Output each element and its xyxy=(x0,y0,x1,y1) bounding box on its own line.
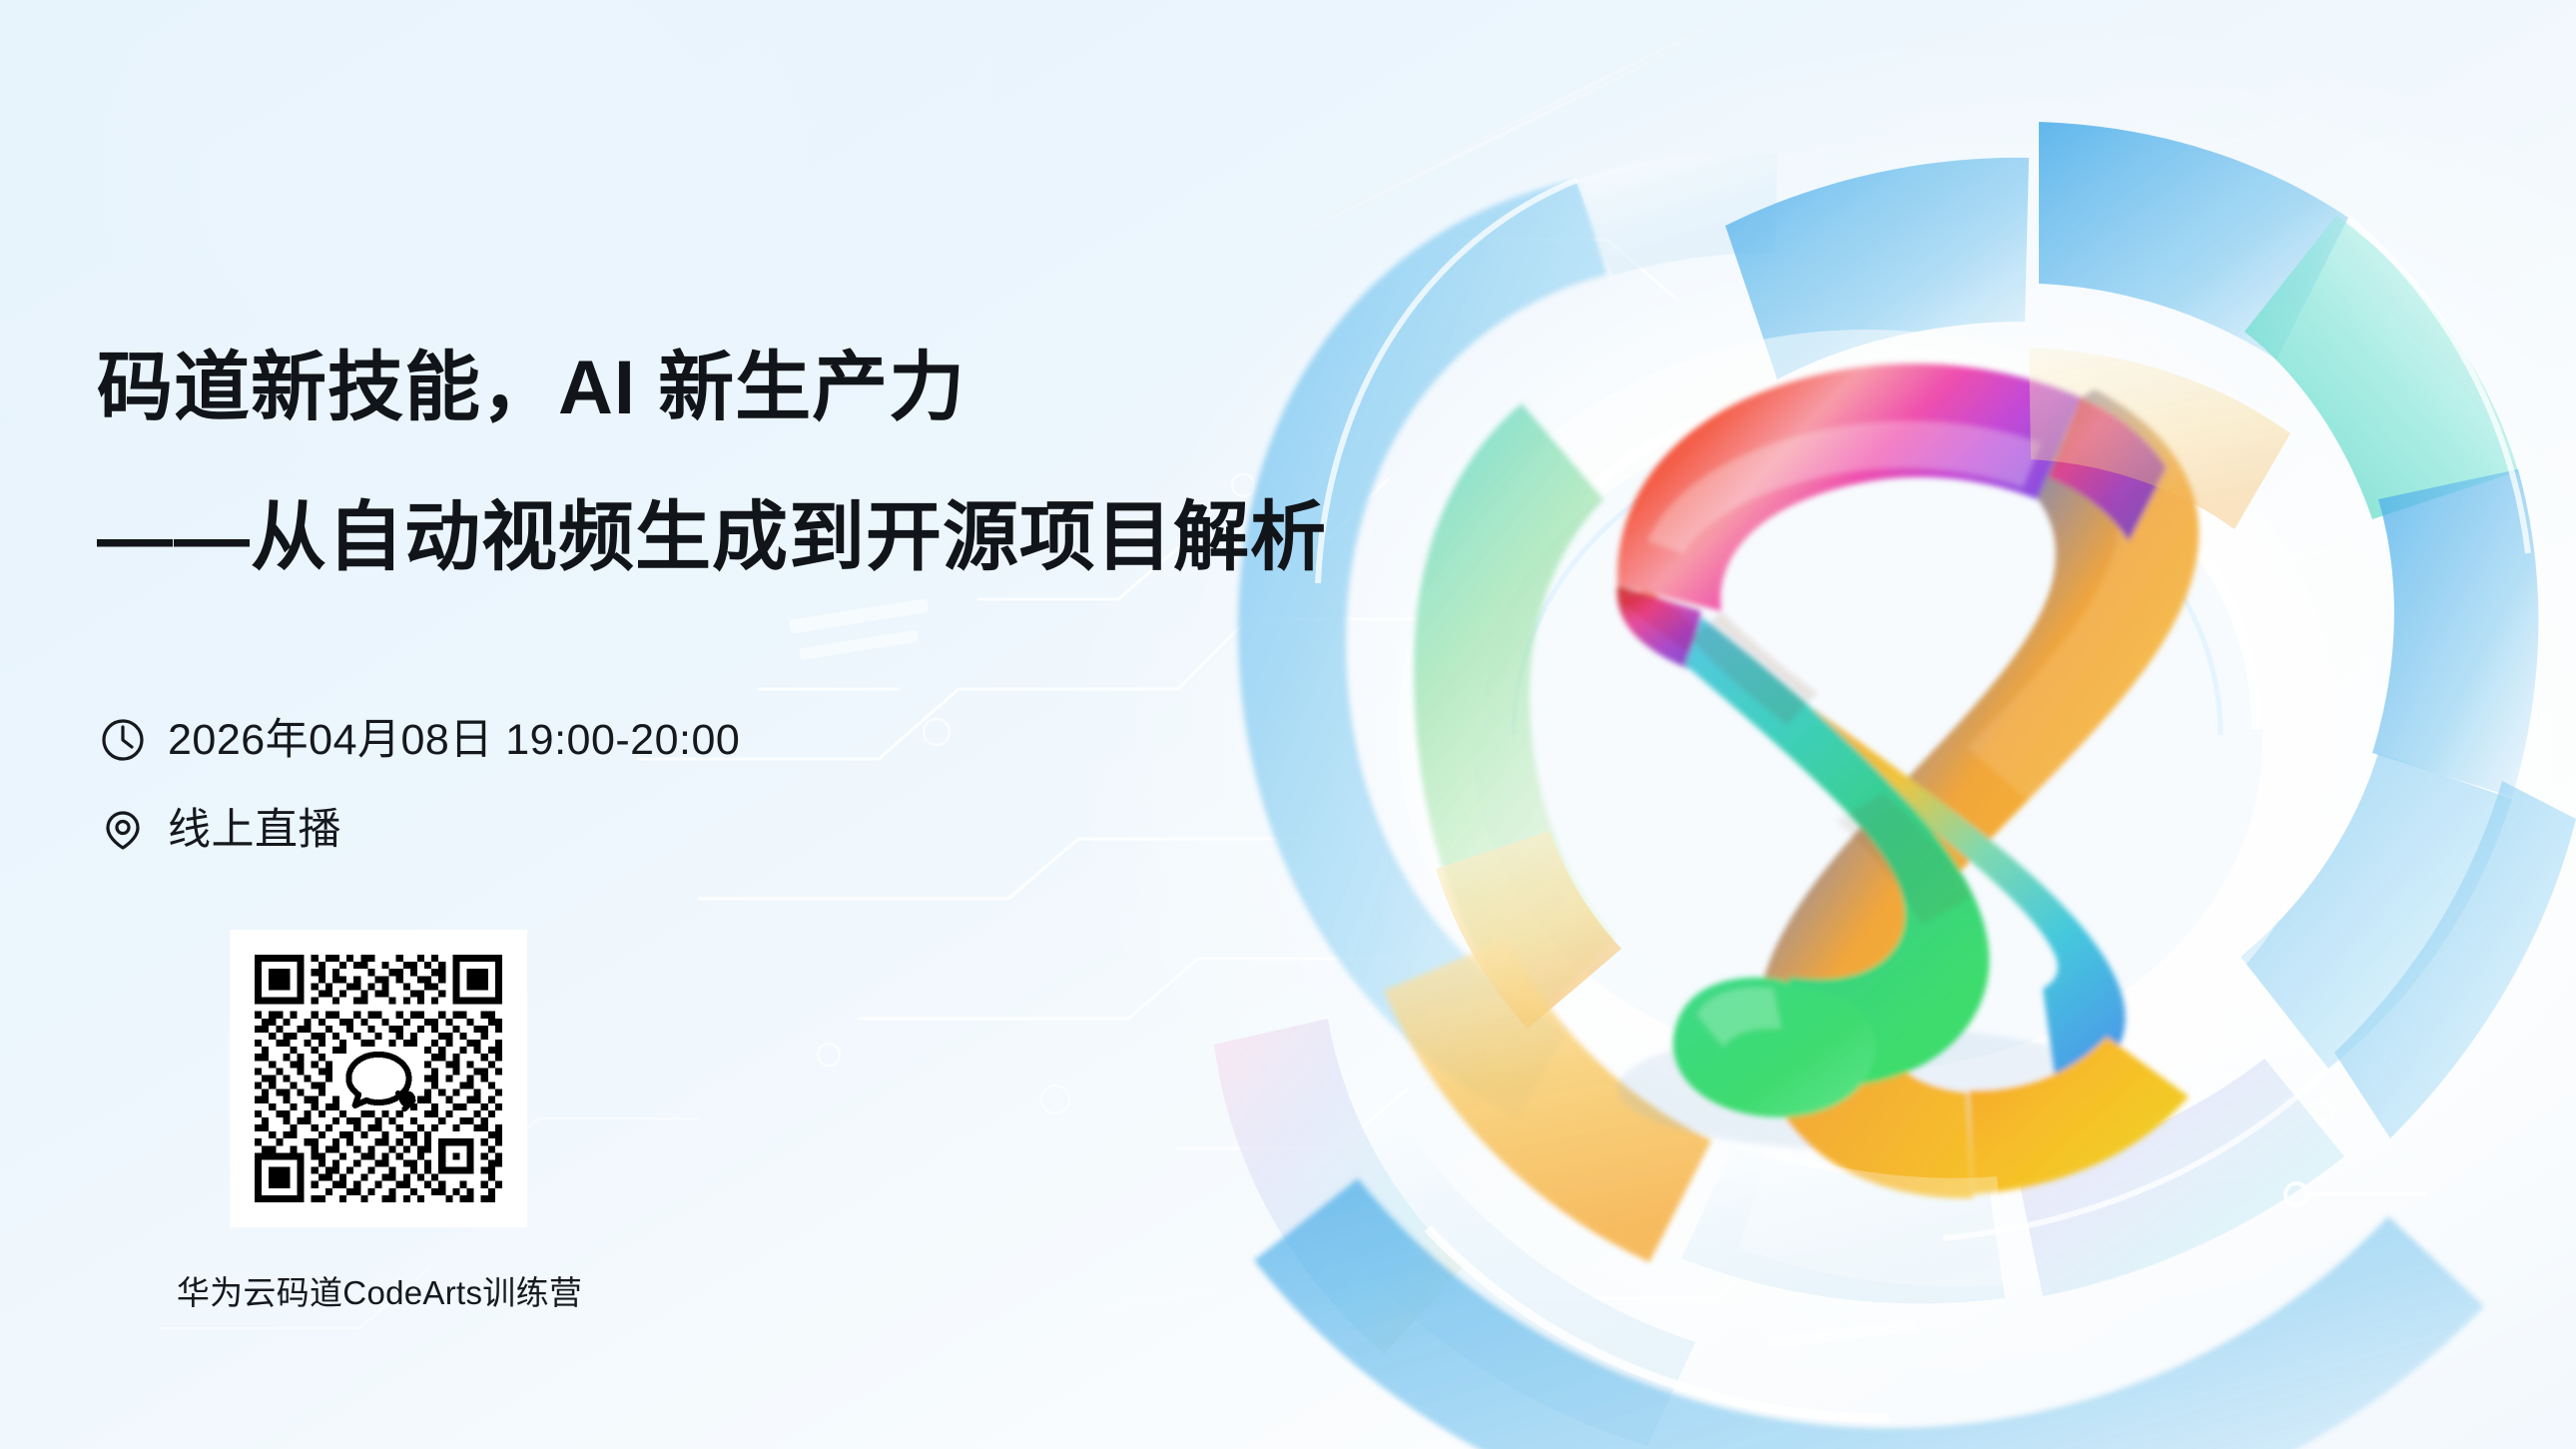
event-time-row: 2026年04月08日 19:00-20:00 xyxy=(100,717,740,763)
event-location-text: 线上直播 xyxy=(168,809,341,852)
qr-code[interactable] xyxy=(230,930,527,1227)
qr-caption: 华为云码道CodeArts训练营 xyxy=(135,1266,624,1314)
map-pin-icon xyxy=(100,807,146,853)
poster-canvas: 码道新技能，AI 新生产力 ——从自动视频生成到开源项目解析 2026年04月0… xyxy=(0,0,2576,1449)
event-time-text: 2026年04月08日 19:00-20:00 xyxy=(168,719,740,762)
content-column: 码道新技能，AI 新生产力 ——从自动视频生成到开源项目解析 2026年04月0… xyxy=(0,0,1198,1449)
headline-line-1: 码道新技能，AI 新生产力 xyxy=(97,349,966,428)
headline-line-2: ——从自动视频生成到开源项目解析 xyxy=(97,498,1327,578)
codearts-glass-ribbon-artwork xyxy=(1178,30,2576,1449)
clock-icon xyxy=(100,717,146,763)
event-location-row: 线上直播 xyxy=(100,807,341,853)
